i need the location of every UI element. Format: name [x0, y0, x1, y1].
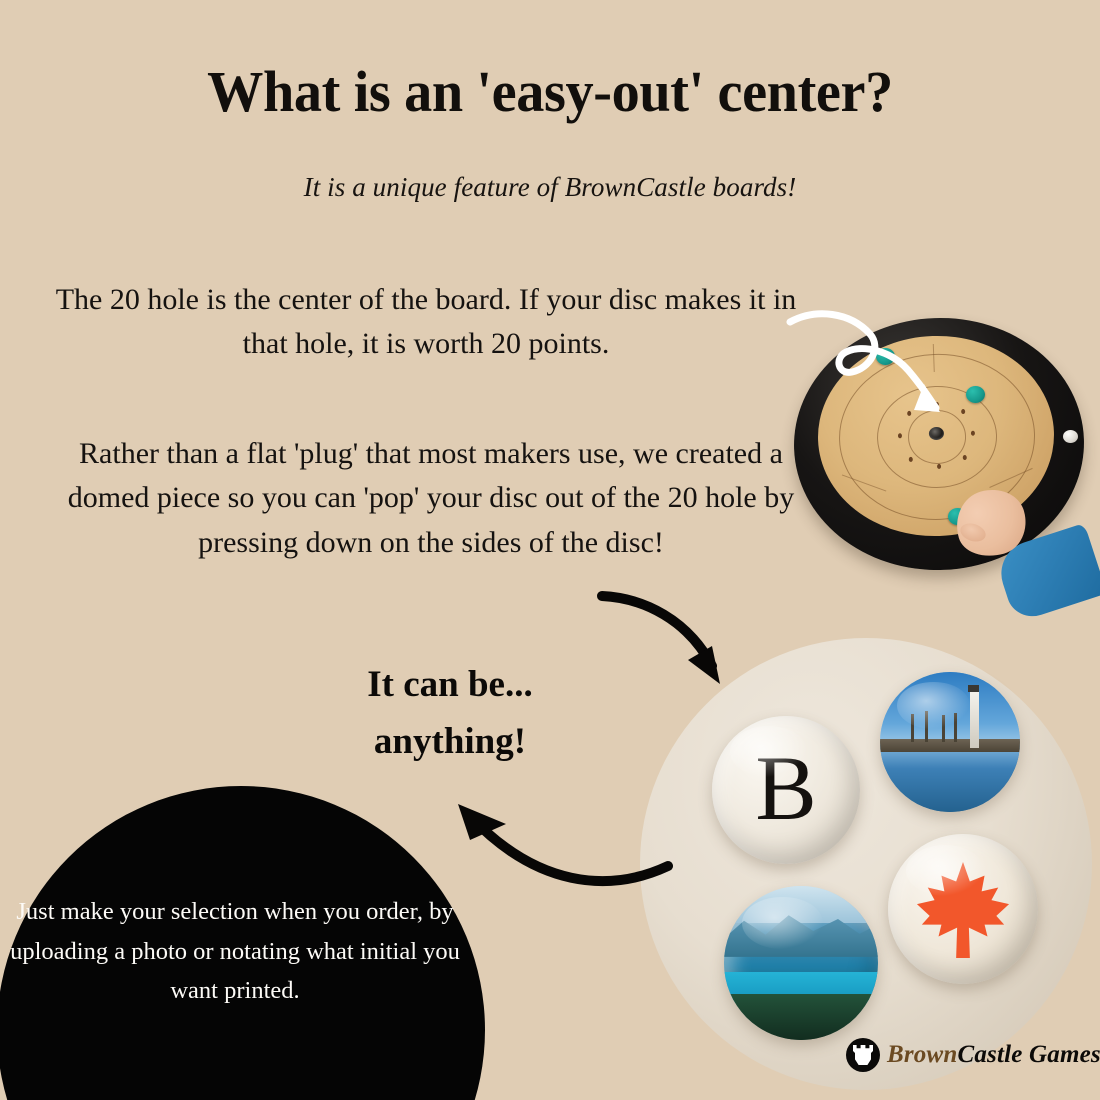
callout-line-one: It can be... [300, 656, 600, 713]
initial-disc-letter: B [755, 742, 816, 834]
board-peg [963, 455, 967, 460]
callout-it-can-be: It can be... anything! [300, 656, 600, 771]
mountain-forest [724, 994, 878, 1040]
board-peg [937, 464, 941, 469]
castle-rook-icon [846, 1038, 880, 1072]
castle-rook-glyph [853, 1045, 873, 1065]
board-peg [961, 409, 965, 414]
palm-tree [925, 711, 928, 742]
mountain-sky [724, 886, 878, 923]
crokinole-board-photo [788, 308, 1092, 608]
brand-wordmark: BrownCastle Games [887, 1041, 1100, 1069]
initial-disc: B [712, 716, 860, 864]
palm-tree [942, 715, 945, 742]
note-text: Just make your selection when you order,… [10, 892, 460, 1011]
arrow-to-callout-icon [432, 782, 674, 898]
mountain-lake-disc [724, 886, 878, 1040]
page-subtitle: It is a unique feature of BrownCastle bo… [0, 172, 1100, 203]
brand-word-castle-games: Castle Games [957, 1041, 1100, 1068]
palm-tree [911, 714, 914, 742]
board-game-disc [966, 386, 985, 403]
board-peg [908, 457, 912, 462]
maple-leaf-icon [914, 860, 1012, 958]
page-title: What is an 'easy-out' center? [17, 62, 1084, 123]
lighthouse-lamp [968, 685, 979, 692]
board-rim-marker [1063, 430, 1078, 443]
lighthouse-tower [970, 689, 979, 748]
lighthouse-sea [880, 745, 1020, 812]
callout-line-two: anything! [300, 713, 600, 770]
lighthouse-sky [880, 672, 1020, 745]
brand-word-brown: Brown [887, 1041, 957, 1068]
maple-leaf-disc [888, 834, 1038, 984]
palm-tree [954, 713, 957, 742]
brand-logo: BrownCastle Games [846, 1038, 1100, 1072]
board-peg [935, 402, 939, 407]
board-game-disc [876, 348, 895, 365]
infographic-poster: What is an 'easy-out' center? It is a un… [0, 0, 1100, 1100]
domed-discs-photo: B [640, 638, 1100, 1100]
lighthouse-disc [880, 672, 1020, 812]
board-peg [907, 411, 911, 416]
paragraph-domed-piece: Rather than a flat 'plug' that most make… [36, 432, 826, 565]
paragraph-twenty-hole: The 20 hole is the center of the board. … [36, 278, 816, 367]
lighthouse-shore [880, 739, 1020, 752]
